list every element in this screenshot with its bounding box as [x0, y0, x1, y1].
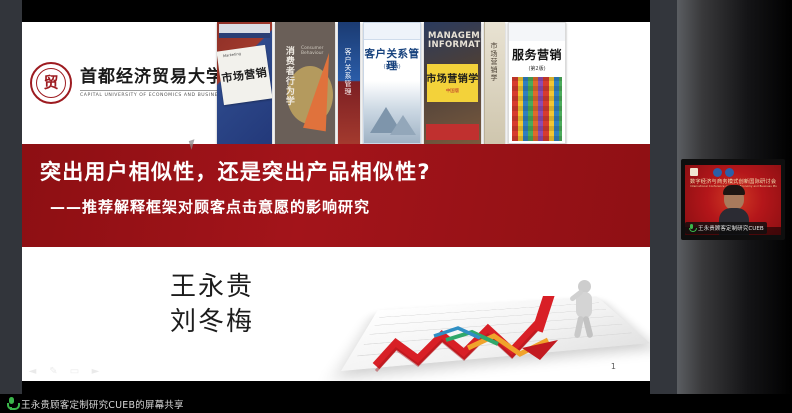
- author-name-1: 王永贵: [170, 270, 254, 305]
- screen-share-status-bar: 王永贵顾客定制研究CUEB的屏幕共享: [0, 394, 792, 413]
- divider: [80, 90, 218, 91]
- book-spine-title: 客户关系管理: [343, 48, 353, 96]
- figure-illustration: [572, 280, 598, 338]
- zoom-screen-share-window: 贸 首都经济贸易大学 CAPITAL UNIVERSITY OF ECONOMI…: [0, 0, 792, 413]
- banner-title: 数字经济与商务模式创新国际研讨会: [690, 178, 777, 185]
- university-crest-icon: 贸: [30, 62, 72, 104]
- prev-slide-icon[interactable]: ◄: [26, 366, 39, 377]
- book-subtitle: (第2版): [364, 63, 420, 70]
- banner-logo-icon: [690, 168, 698, 176]
- microphone-icon: [6, 397, 16, 410]
- textbook-cover-row: Marketing 市场营销 Consumer Behaviour 消费者行为学…: [217, 22, 650, 144]
- next-slide-icon[interactable]: ►: [89, 366, 102, 377]
- speaker-hair: [723, 185, 745, 195]
- presentation-toolbar[interactable]: ◄ ✎ ▭ ►: [26, 366, 102, 377]
- slide-title-band: 突出用户相似性，还是突出产品相似性? ——推荐解释框架对顾客点击意愿的影响研究: [22, 144, 650, 247]
- bottom-letterbox: [22, 381, 650, 394]
- author-name-2: 刘冬梅: [170, 305, 254, 340]
- crest-glyph: 贸: [32, 76, 70, 91]
- book-top-band: [219, 24, 270, 33]
- university-name-en: CAPITAL UNIVERSITY OF ECONOMICS AND BUSI…: [80, 93, 225, 98]
- book-spine: 市场营销学: [484, 22, 505, 144]
- participant-name: 王永贵顾客定制研究CUEB: [698, 224, 764, 232]
- book-title: 市场营销学: [424, 74, 481, 85]
- slide-title: 突出用户相似性，还是突出产品相似性?: [40, 156, 431, 186]
- book-bottom-strip: [426, 124, 479, 140]
- banner-badge-icon: [725, 168, 734, 177]
- shared-slide[interactable]: 贸 首都经济贸易大学 CAPITAL UNIVERSITY OF ECONOMI…: [22, 22, 650, 381]
- banner-badge-icon: [713, 168, 722, 177]
- university-name-cn: 首都经济贸易大学: [80, 68, 225, 87]
- author-names: 王永贵 刘冬梅: [170, 270, 254, 340]
- book-top-band: [509, 23, 565, 41]
- top-letterbox: [22, 0, 650, 22]
- book-art-mosaic: [512, 77, 562, 141]
- conference-backdrop-banner: 数字经济与商务模式创新国际研讨会 International Conferenc…: [687, 166, 779, 186]
- participant-name-bar: 王永贵顾客定制研究CUEB: [685, 222, 767, 234]
- slide-header-band: 贸 首都经济贸易大学 CAPITAL UNIVERSITY OF ECONOMI…: [22, 22, 650, 144]
- growth-chart-illustration: [350, 244, 650, 381]
- microphone-icon: [688, 224, 695, 233]
- book-cover: 服务营销 (第2版): [508, 22, 566, 144]
- book-spine: 客户关系管理: [338, 22, 360, 144]
- university-names: 首都经济贸易大学 CAPITAL UNIVERSITY OF ECONOMICS…: [80, 68, 225, 98]
- book-subtitle: 中国版: [424, 88, 481, 94]
- screen-share-status-text: 王永贵顾客定制研究CUEB的屏幕共享: [21, 397, 184, 411]
- university-branding: 贸 首都经济贸易大学 CAPITAL UNIVERSITY OF ECONOMI…: [22, 22, 217, 144]
- slide-menu-icon[interactable]: ▭: [68, 366, 81, 377]
- book-subtitle: Consumer Behaviour: [301, 46, 335, 56]
- participant-video-tile[interactable]: 数字经济与商务模式创新国际研讨会 International Conferenc…: [681, 159, 785, 240]
- book-top-band-2: [219, 33, 270, 38]
- book-art-mountain-2: [390, 115, 416, 135]
- figure-leg: [582, 316, 593, 339]
- book-art-shard: [303, 51, 335, 132]
- left-rail: [0, 0, 22, 394]
- book-subtitle: (第2版): [509, 65, 565, 72]
- book-spine-title: 市场营销学: [489, 42, 499, 82]
- book-cover: 客户关系管理 (第2版): [363, 22, 421, 144]
- book-spine-title: MANAGEMENT INFORMATION: [428, 32, 481, 50]
- slide-page-number: 1: [611, 362, 616, 371]
- book-cover: MANAGEMENT INFORMATION 市场营销学 中国版: [424, 22, 481, 144]
- pen-annotation-icon[interactable]: ✎: [47, 366, 60, 377]
- slide-subtitle: ——推荐解释框架对顾客点击意愿的影响研究: [50, 196, 370, 217]
- right-gray-strip: [650, 0, 677, 394]
- book-title: 服务营销: [509, 49, 565, 62]
- book-cover: Marketing 市场营销: [217, 22, 272, 144]
- book-title: 消费者行为学: [283, 46, 293, 106]
- book-top-band: [364, 23, 420, 40]
- book-cover: Consumer Behaviour 消费者行为学: [275, 22, 335, 144]
